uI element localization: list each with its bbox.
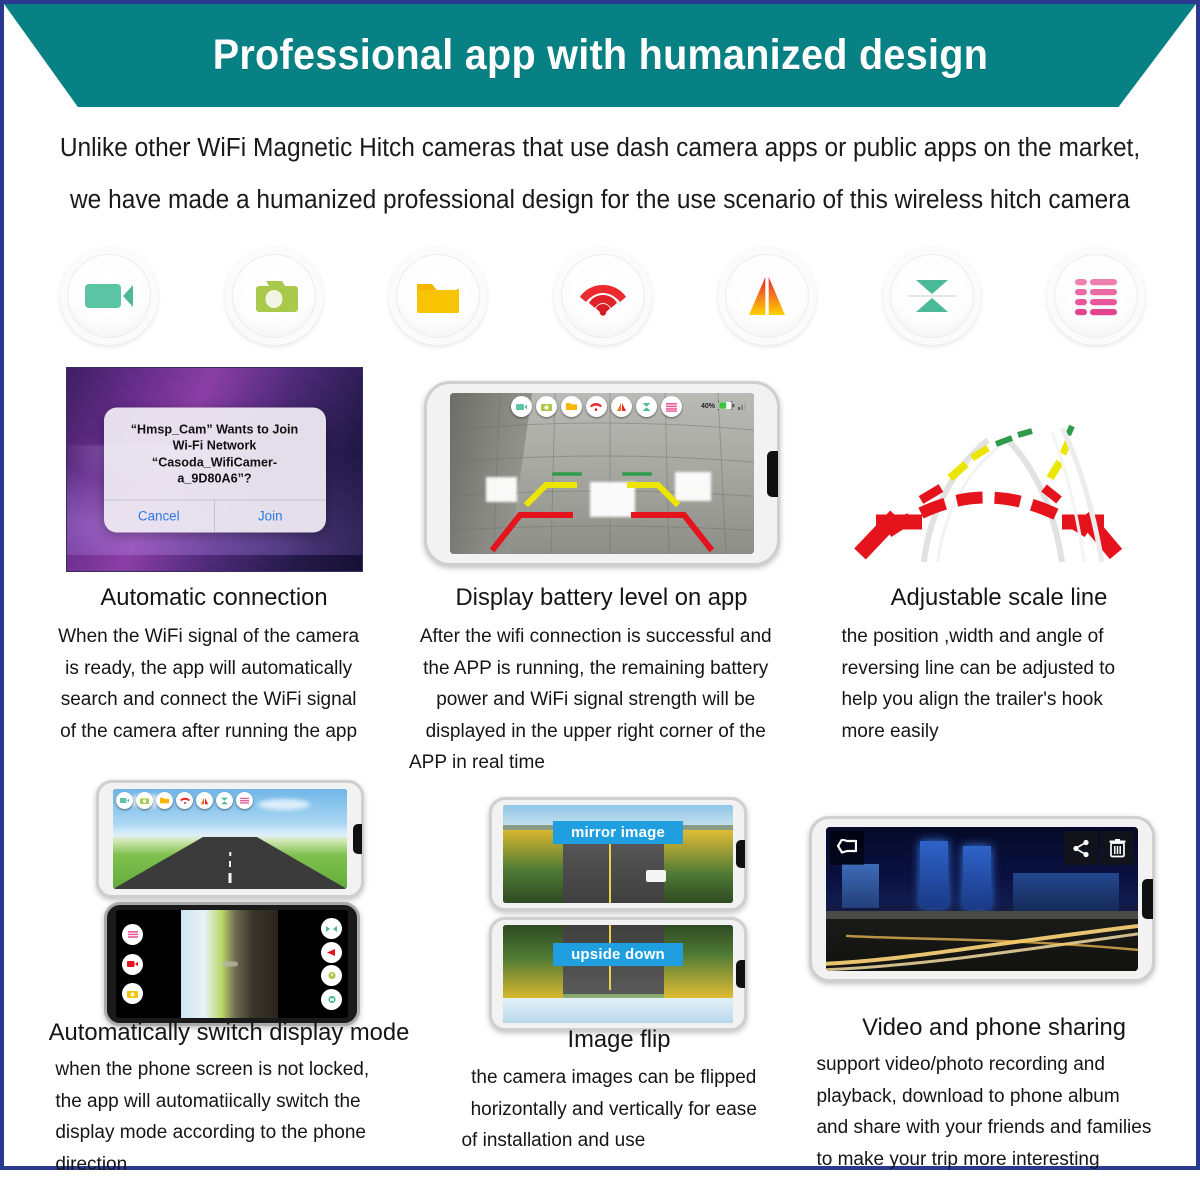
- alert-buttons: Cancel Join: [104, 499, 326, 532]
- join-button[interactable]: Join: [215, 500, 326, 532]
- phone-screen-mirror: mirror image: [503, 805, 733, 903]
- wifi-dialog-screenshot: “Hmsp_Cam” Wants to Join Wi-Fi Network “…: [66, 367, 363, 572]
- settings-list-icon[interactable]: [236, 792, 253, 809]
- feature-image-flip: Image flip the camera images can be flip…: [444, 1026, 794, 1157]
- road-center-line: [229, 873, 232, 883]
- phone-landscape-mode: [96, 780, 364, 898]
- mirror-flip-horizontal-icon[interactable]: [321, 942, 342, 963]
- flip-vertical-icon[interactable]: [216, 792, 233, 809]
- sky: [503, 998, 733, 1023]
- infographic-page: Professional app with humanized design U…: [0, 0, 1200, 1170]
- video-record-icon[interactable]: [511, 396, 532, 417]
- highway-scene-flipped: [503, 925, 733, 1023]
- feature-body: when the phone screen is not locked, the…: [34, 1054, 412, 1180]
- light-trails: [826, 916, 1138, 971]
- building-cluster: [1013, 873, 1119, 910]
- camera-photo-icon[interactable]: [136, 792, 153, 809]
- trash-icon[interactable]: [1100, 831, 1134, 865]
- skyscraper: [963, 846, 991, 909]
- building: [842, 864, 879, 907]
- body-line: search and connect the WiFi signal: [34, 684, 383, 716]
- feature-title: Adjustable scale line: [829, 584, 1169, 612]
- feature-title: Video and phone sharing: [805, 1014, 1183, 1042]
- ios-join-wifi-alert: “Hmsp_Cam” Wants to Join Wi-Fi Network “…: [104, 407, 326, 532]
- cloud: [258, 799, 309, 810]
- wifi-signal-icon[interactable]: [586, 396, 607, 417]
- parking-guide-lines: [450, 393, 754, 554]
- wifi-signal-icon[interactable]: [554, 247, 652, 345]
- phone-screen-road: [113, 789, 347, 889]
- camera-photo-icon[interactable]: [225, 247, 323, 345]
- video-record-icon[interactable]: [116, 792, 133, 809]
- body-line: to make your trip more interesting: [816, 1144, 1177, 1176]
- phone-notch: [736, 840, 745, 868]
- body-line: displayed in the upper right corner of t…: [409, 716, 782, 748]
- body-line: help you align the trailer's hook: [841, 684, 1163, 716]
- road-center-line: [229, 861, 231, 867]
- body-line: of the camera after running the app: [34, 716, 383, 748]
- header-banner: Professional app with humanized design: [4, 4, 1196, 107]
- settings-list-icon[interactable]: [1047, 247, 1145, 345]
- body-line: the position ,width and angle of: [841, 621, 1163, 653]
- body-line: horizontally and vertically for ease: [444, 1094, 784, 1126]
- phone-screen-camera: 40%: [450, 393, 754, 554]
- feature-title: Automatically switch display mode: [40, 1019, 418, 1047]
- page-title: Professional app with humanized design: [212, 31, 987, 80]
- alert-line-1: “Hmsp_Cam” Wants to Join: [116, 421, 314, 438]
- mirror-image-label: mirror image: [553, 821, 683, 844]
- feature-title: Image flip: [449, 1026, 789, 1054]
- phone-upside-down: upside down: [489, 917, 747, 1031]
- hitch-marker: [222, 962, 238, 967]
- phone-notch: [353, 824, 362, 854]
- folder-album-icon[interactable]: [321, 989, 342, 1010]
- feature-body: the position ,width and angle of reversi…: [824, 621, 1164, 747]
- phone-portrait-mode: [104, 902, 360, 1026]
- feature-title: Display battery level on app: [415, 584, 788, 612]
- alert-line-2: Wi-Fi Network: [116, 438, 314, 455]
- body-line: When the WiFi signal of the camera: [34, 621, 383, 653]
- phone-side-button: [1142, 879, 1153, 919]
- settings-list-icon[interactable]: [661, 396, 682, 417]
- phone-screen-playback: [826, 827, 1138, 971]
- feature-body: support video/photo recording and playba…: [799, 1049, 1177, 1175]
- folder-album-icon[interactable]: [561, 396, 582, 417]
- flip-vertical-icon[interactable]: [321, 918, 342, 939]
- battery-percent-label: 40%: [701, 403, 715, 410]
- phone-mirror-image: mirror image: [489, 797, 747, 911]
- body-line: reversing line can be adjusted to: [841, 653, 1163, 685]
- app-toolbar-icon-row: [60, 242, 1145, 350]
- skyscraper: [920, 841, 948, 907]
- phone-side-button: [767, 451, 778, 497]
- app-toolbar-mini: [511, 396, 682, 417]
- lane-marking: [609, 838, 611, 903]
- upside-down-label: upside down: [553, 943, 683, 966]
- flip-vertical-icon[interactable]: [883, 247, 981, 345]
- mirror-flip-horizontal-icon[interactable]: [611, 396, 632, 417]
- back-arrow-icon[interactable]: [830, 831, 864, 865]
- cell-signal-icon: [738, 397, 750, 415]
- body-line: more easily: [841, 716, 1163, 748]
- feature-video-phone-sharing: Video and phone sharing support video/ph…: [799, 1014, 1189, 1175]
- feature-body: the camera images can be flipped horizon…: [444, 1062, 784, 1157]
- video-record-icon[interactable]: [60, 247, 158, 345]
- right-control-column: [321, 916, 342, 1012]
- folder-album-icon[interactable]: [389, 247, 487, 345]
- feature-title: Automatic connection: [39, 584, 388, 612]
- alert-message: “Hmsp_Cam” Wants to Join Wi-Fi Network “…: [104, 407, 326, 499]
- camera-feed: 40%: [450, 393, 754, 554]
- intro-line-1: Unlike other WiFi Magnetic Hitch cameras…: [28, 122, 1172, 174]
- feature-display-battery-level: Display battery level on app After the w…: [409, 584, 794, 779]
- phone-camera-view: 40%: [424, 381, 780, 566]
- camera-photo-icon[interactable]: [536, 396, 557, 417]
- feature-body: After the wifi connection is successful …: [409, 621, 782, 779]
- left-control-column: [122, 916, 143, 1012]
- portrait-camera-feed: [181, 910, 278, 1018]
- phone-notch: [736, 960, 745, 988]
- body-line: playback, download to phone album: [816, 1081, 1177, 1113]
- alert-line-3: “Casoda_WifiCamer-: [116, 454, 314, 471]
- mirror-flip-horizontal-icon[interactable]: [718, 247, 816, 345]
- night-city-scene: [826, 827, 1138, 971]
- body-line: of installation and use: [444, 1125, 784, 1157]
- feature-automatic-connection: Automatic connection When the WiFi signa…: [34, 584, 394, 747]
- body-line: power and WiFi signal strength will be: [409, 684, 782, 716]
- feature-auto-switch-display-mode: Automatically switch display mode when t…: [34, 1019, 424, 1180]
- body-line: APP in real time: [409, 747, 782, 779]
- folder-album-icon[interactable]: [156, 792, 173, 809]
- body-line: and share with your friends and families: [816, 1112, 1177, 1144]
- feature-body: When the WiFi signal of the camera is re…: [34, 621, 383, 747]
- road-scene: [113, 789, 347, 889]
- flip-vertical-icon[interactable]: [636, 396, 657, 417]
- road-center-line: [229, 852, 231, 856]
- wifi-signal-icon[interactable]: [176, 792, 193, 809]
- video-record-icon[interactable]: [122, 954, 143, 975]
- cancel-button[interactable]: Cancel: [104, 500, 216, 532]
- intro-paragraph: Unlike other WiFi Magnetic Hitch cameras…: [28, 122, 1172, 226]
- settings-list-icon[interactable]: [122, 924, 143, 945]
- scale-line-graphic: [816, 404, 1146, 564]
- app-toolbar-mini: [116, 792, 253, 809]
- body-line: is ready, the app will automatically: [34, 653, 383, 685]
- body-line: After the wifi connection is successful …: [409, 621, 782, 653]
- vehicle: [646, 870, 666, 882]
- phone-playback-view: [809, 816, 1155, 982]
- battery-icon: [718, 397, 735, 415]
- camera-photo-icon[interactable]: [122, 983, 143, 1004]
- share-icon[interactable]: [1064, 831, 1098, 865]
- body-line: the camera images can be flipped: [444, 1062, 784, 1094]
- body-line: support video/photo recording and: [816, 1049, 1177, 1081]
- body-line: when the phone screen is not locked,: [55, 1054, 412, 1086]
- body-line: the APP is running, the remaining batter…: [409, 653, 782, 685]
- intro-line-2: we have made a humanized professional de…: [28, 174, 1172, 226]
- phone-screen-portrait: [116, 910, 348, 1018]
- highway-scene: mirror image: [503, 805, 733, 903]
- feature-adjustable-scale-line: Adjustable scale line the position ,widt…: [824, 584, 1174, 747]
- alert-line-4: a_9D80A6”?: [116, 471, 314, 488]
- reversing-guide-curves: [816, 404, 1146, 564]
- status-indicators: 40%: [701, 397, 750, 415]
- body-line: direction: [55, 1149, 412, 1180]
- mirror-flip-horizontal-icon[interactable]: [196, 792, 213, 809]
- phone-screen-upside-down: upside down: [503, 925, 733, 1023]
- body-line: display mode according to the phone: [55, 1117, 412, 1149]
- body-line: the app will automatiically switch the: [55, 1086, 412, 1118]
- wifi-signal-icon[interactable]: [321, 965, 342, 986]
- highway-surface: [563, 834, 664, 903]
